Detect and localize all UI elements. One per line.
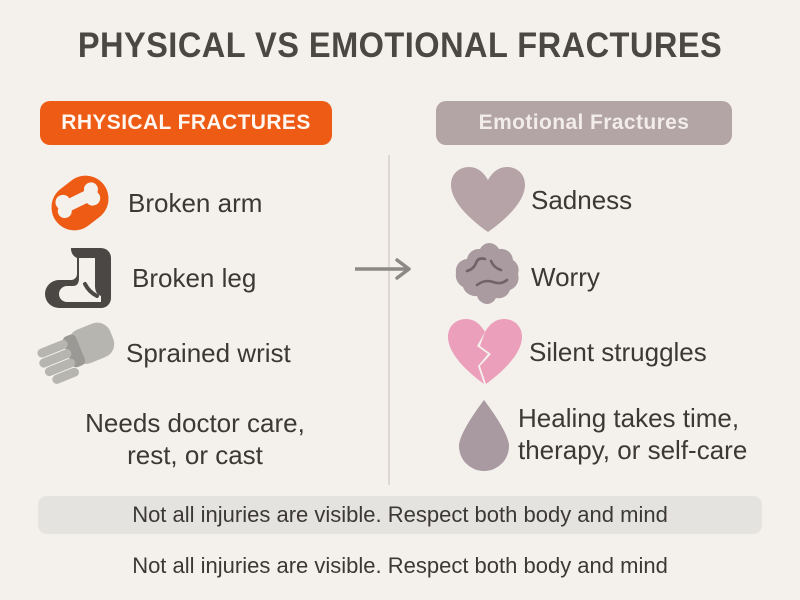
list-item-sadness: Sadness <box>445 163 632 237</box>
list-item-label: Sprained wrist <box>126 338 291 369</box>
list-item-broken-leg: Broken leg <box>36 240 256 316</box>
list-item-worry: Worry <box>445 240 600 314</box>
teardrop-icon <box>450 395 518 475</box>
summary-banner: Not all injuries are visible. Respect bo… <box>38 496 762 534</box>
footer-caption: Not all injuries are visible. Respect bo… <box>0 553 800 579</box>
list-item-healing: Healing takes time, therapy, or self-car… <box>450 395 747 475</box>
physical-footer-text: Needs doctor care, rest, or cast <box>20 408 370 471</box>
list-item-sprained-wrist: Sprained wrist <box>30 315 291 391</box>
list-item-label: Sadness <box>531 185 632 216</box>
list-item-silent-struggles: Silent struggles <box>443 315 707 389</box>
leg-cast-icon <box>36 240 132 316</box>
emotional-badge-label: Emotional Fractures <box>479 111 690 135</box>
list-item-label: Broken arm <box>128 188 262 219</box>
heart-icon <box>445 163 531 237</box>
physical-footer-line-2: rest, or cast <box>20 440 370 472</box>
summary-banner-text: Not all injuries are visible. Respect bo… <box>132 502 668 528</box>
healing-footer-line-1: Healing takes time, <box>518 403 747 435</box>
list-item-broken-arm: Broken arm <box>32 165 262 241</box>
list-item-label: Silent struggles <box>529 337 707 368</box>
broken-heart-icon <box>443 315 529 389</box>
healing-footer-line-2: therapy, or self-care <box>518 435 747 467</box>
bone-icon <box>32 165 128 241</box>
infographic-canvas: PHYSICAL VS EMOTIONAL FRACTURES RHYSICAL… <box>0 0 800 600</box>
physical-fractures-badge: RHYSICAL FRACTURES <box>40 101 332 145</box>
list-item-label: Worry <box>531 262 600 293</box>
emotional-fractures-badge: Emotional Fractures <box>436 101 732 145</box>
physical-badge-label: RHYSICAL FRACTURES <box>61 111 311 135</box>
list-item-label: Broken leg <box>132 263 256 294</box>
healing-footer-text: Healing takes time, therapy, or self-car… <box>518 403 747 466</box>
bandaged-wrist-icon <box>30 315 126 391</box>
physical-footer-line-1: Needs doctor care, <box>20 408 370 440</box>
brain-icon <box>445 240 531 314</box>
